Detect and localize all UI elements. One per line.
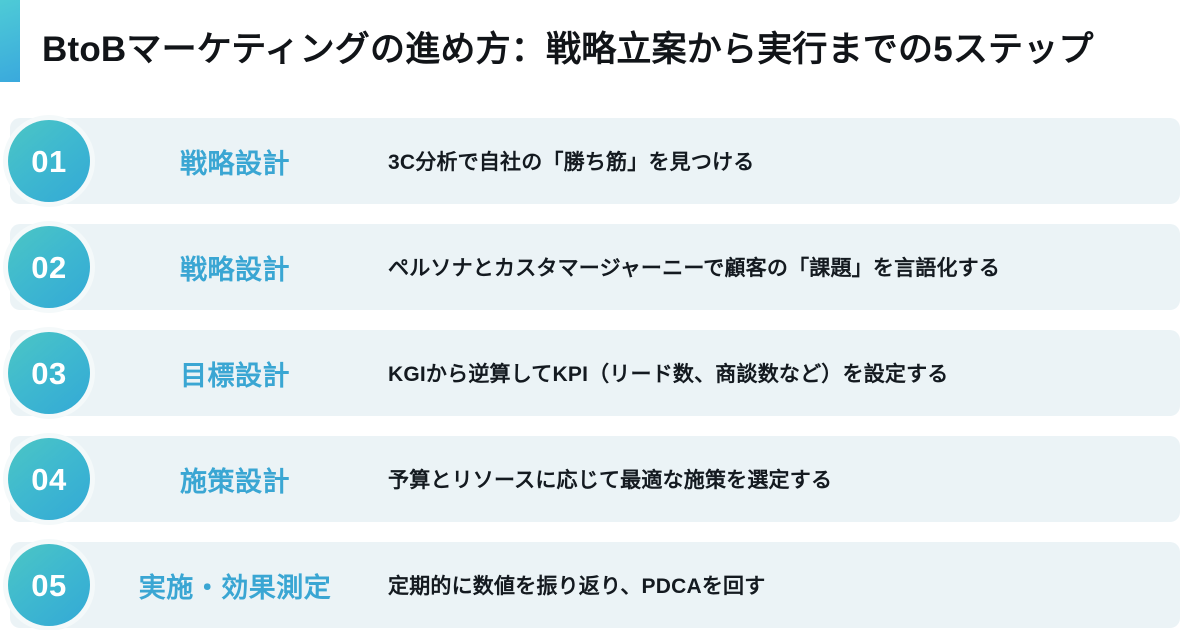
step-number-badge: 05 [8, 544, 90, 626]
step-description: 予算とリソースに応じて最適な施策を選定する [388, 436, 832, 522]
steps-list: 01 戦略設計 3C分析で自社の「勝ち筋」を見つける 02 戦略設計 ペルソナと… [0, 118, 1200, 628]
step-number-badge: 03 [8, 332, 90, 414]
step-number: 04 [31, 464, 66, 495]
step-number: 03 [31, 358, 66, 389]
step-label: 目標設計 [110, 330, 360, 416]
list-item: 05 実施・効果測定 定期的に数値を振り返り、PDCAを回す [0, 542, 1190, 628]
step-description: KGIから逆算してKPI（リード数、商談数など）を設定する [388, 330, 949, 416]
list-item: 01 戦略設計 3C分析で自社の「勝ち筋」を見つける [0, 118, 1190, 204]
header: BtoBマーケティングの進め方：戦略立案から実行までの5ステップ [0, 0, 1200, 100]
step-label: 実施・効果測定 [110, 542, 360, 628]
step-label: 施策設計 [110, 436, 360, 522]
header-accent-bar [0, 0, 20, 82]
list-item: 03 目標設計 KGIから逆算してKPI（リード数、商談数など）を設定する [0, 330, 1190, 416]
page-title: BtoBマーケティングの進め方：戦略立案から実行までの5ステップ [42, 31, 1094, 70]
list-item: 02 戦略設計 ペルソナとカスタマージャーニーで顧客の「課題」を言語化する [0, 224, 1190, 310]
step-description: 定期的に数値を振り返り、PDCAを回す [388, 542, 765, 628]
step-number-badge: 01 [8, 120, 90, 202]
step-number-badge: 02 [8, 226, 90, 308]
step-number: 01 [31, 146, 66, 177]
list-item: 04 施策設計 予算とリソースに応じて最適な施策を選定する [0, 436, 1190, 522]
step-description: ペルソナとカスタマージャーニーで顧客の「課題」を言語化する [388, 224, 1000, 310]
step-label: 戦略設計 [110, 118, 360, 204]
step-description: 3C分析で自社の「勝ち筋」を見つける [388, 118, 754, 204]
step-number: 05 [31, 570, 66, 601]
step-label: 戦略設計 [110, 224, 360, 310]
step-number-badge: 04 [8, 438, 90, 520]
step-number: 02 [31, 252, 66, 283]
infographic-page: BtoBマーケティングの進め方：戦略立案から実行までの5ステップ 01 戦略設計… [0, 0, 1200, 630]
